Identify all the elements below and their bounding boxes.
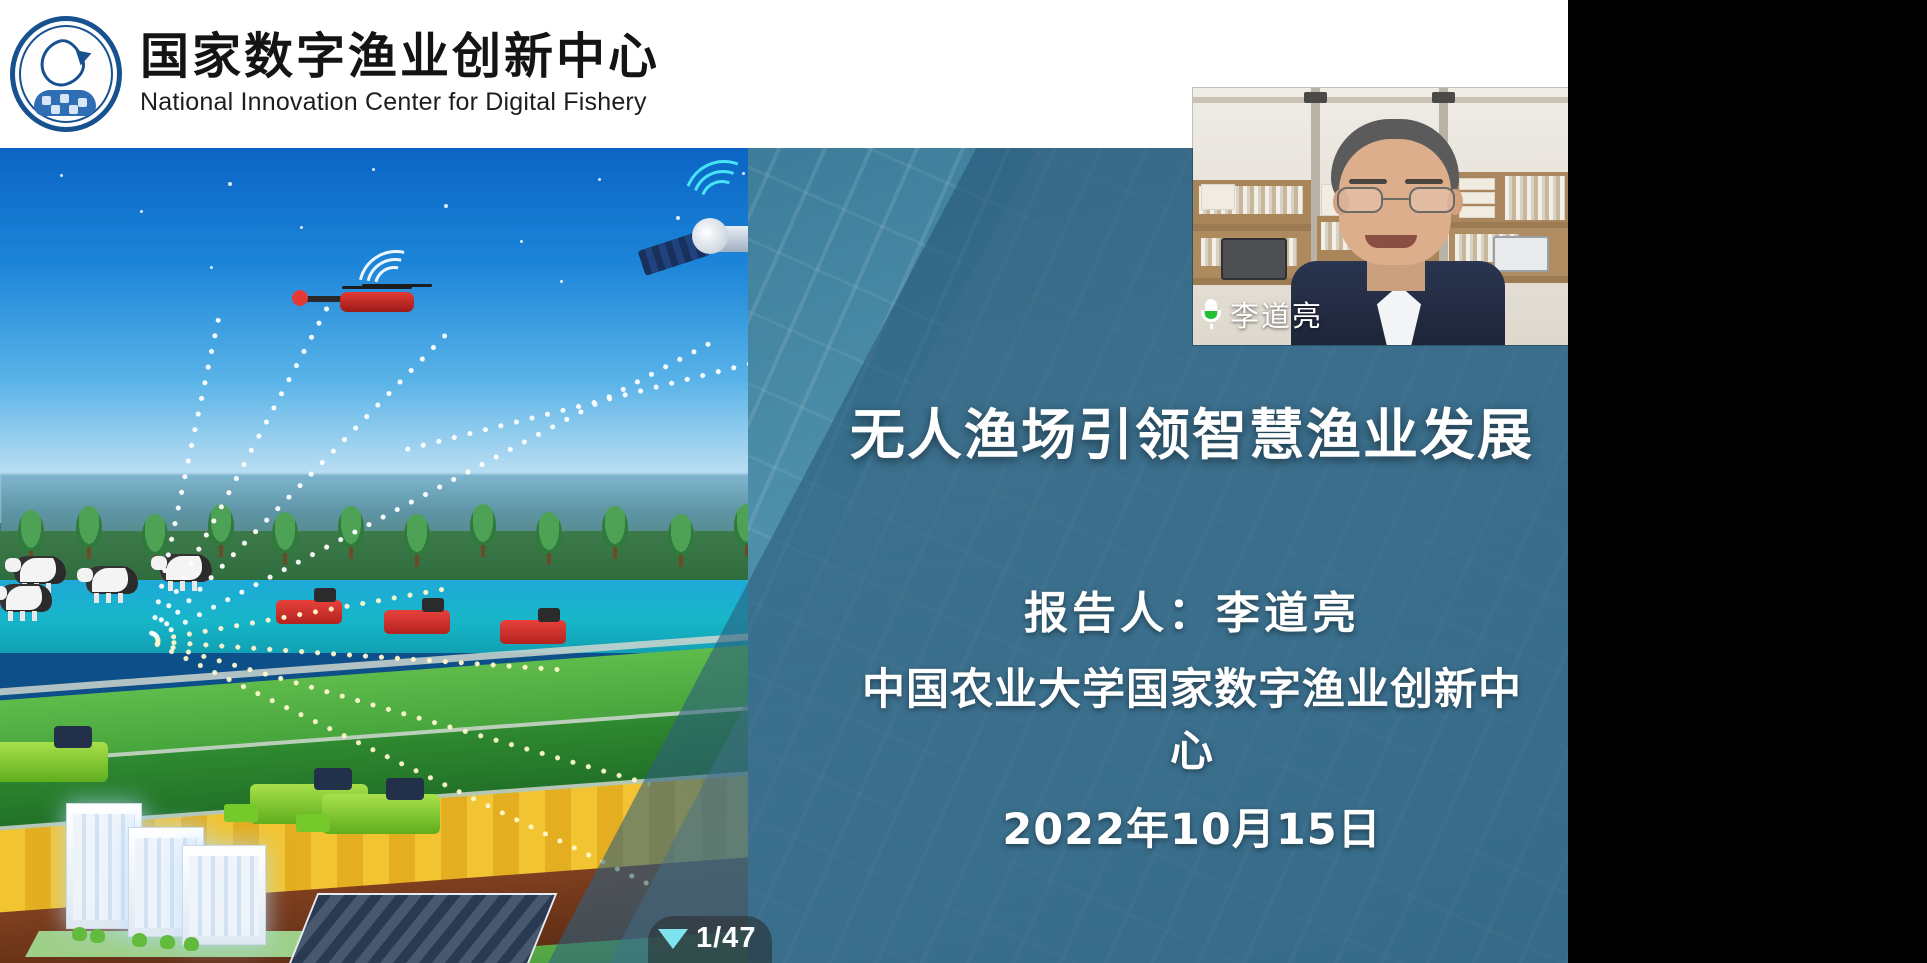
letterbox-right [1568,0,1927,963]
glasses-icon [1337,187,1455,213]
cow-icon [14,556,66,584]
laptop-icon [1493,236,1549,272]
cow-icon [0,584,52,612]
caret-down-icon [658,929,688,949]
slide-date: 2022年10月15日 [842,795,1542,857]
logo-org-cn: 国家数字渔业创新中心 [140,31,660,84]
books [1505,176,1565,220]
tractor-icon [500,620,566,644]
shelf-board [1193,224,1311,231]
cow-icon [86,566,138,594]
slide-presenter: 报告人：李道亮 [842,577,1542,641]
participant-name: 李道亮 [1230,293,1323,335]
monitor-icon [1221,238,1287,280]
fishery-institute-seal-icon [10,16,122,132]
slide-counter-label: 1/47 [696,922,756,955]
tractor-icon [384,610,450,634]
harvester-icon [0,742,108,782]
slide-text-block: 无人渔场引领智慧渔业发展 报告人：李道亮 中国农业大学国家数字渔业创新中心 20… [842,404,1542,857]
participant-video-tile[interactable]: 李道亮 [1193,88,1568,345]
screen-share-root: 国家数字渔业创新中心 National Innovation Center fo… [0,0,1927,963]
slide-title: 无人渔场引领智慧渔业发展 [842,404,1542,467]
participant-name-tag: 李道亮 [1201,293,1323,335]
slide-organization: 中国农业大学国家数字渔业创新中心 [842,655,1542,779]
participant-avatar [1309,113,1487,345]
slide-counter[interactable]: 1/47 [648,916,772,963]
shelf-rail [1193,97,1568,103]
microphone-icon [1201,299,1221,329]
storage-box [1201,184,1235,210]
solar-panel-icon [283,893,558,963]
logo-org-en: National Innovation Center for Digital F… [140,88,660,117]
